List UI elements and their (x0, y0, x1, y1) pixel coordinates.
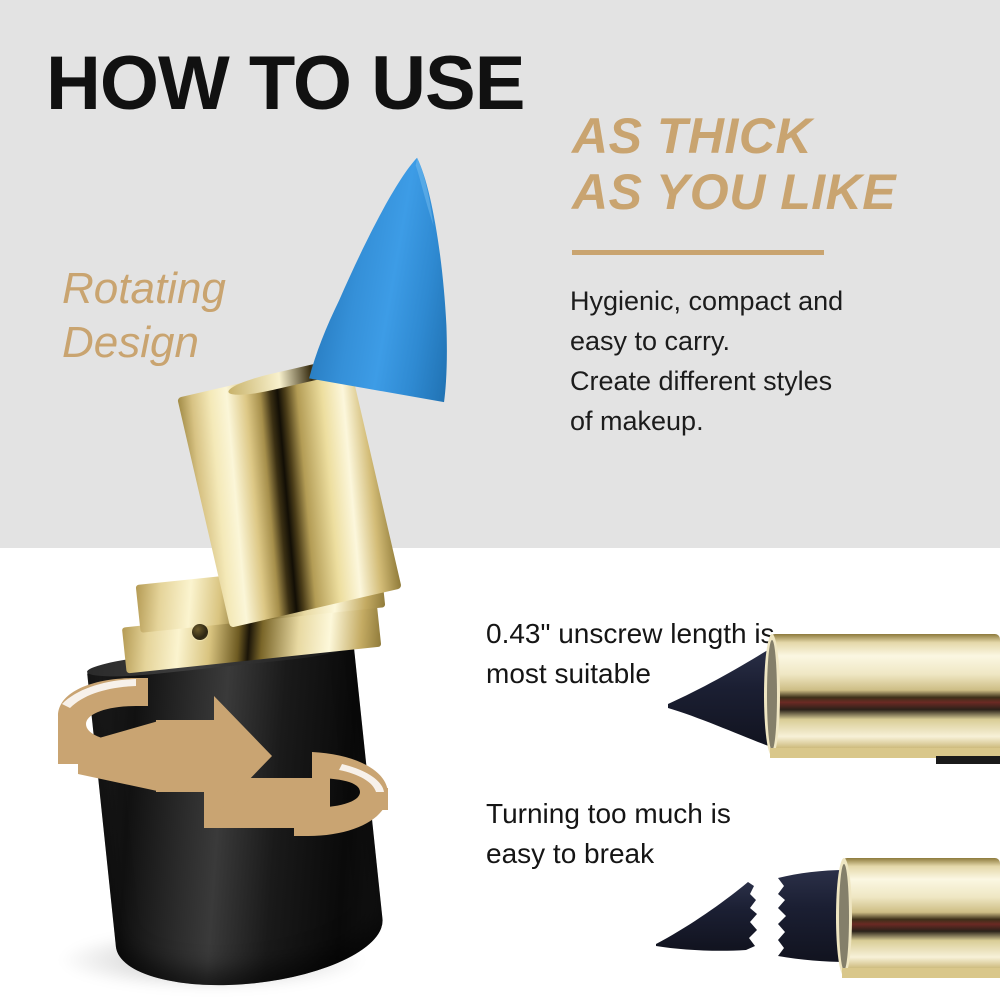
rotation-arrow-icon (44, 660, 404, 900)
infographic-page: HOW TO USE Rotating Design AS THICK AS Y… (0, 0, 1000, 1000)
lipstick-broken-illustration (650, 820, 1000, 1000)
lipstick-blue-cone-tip (301, 143, 490, 415)
lipstick-intact-illustration (650, 596, 1000, 771)
